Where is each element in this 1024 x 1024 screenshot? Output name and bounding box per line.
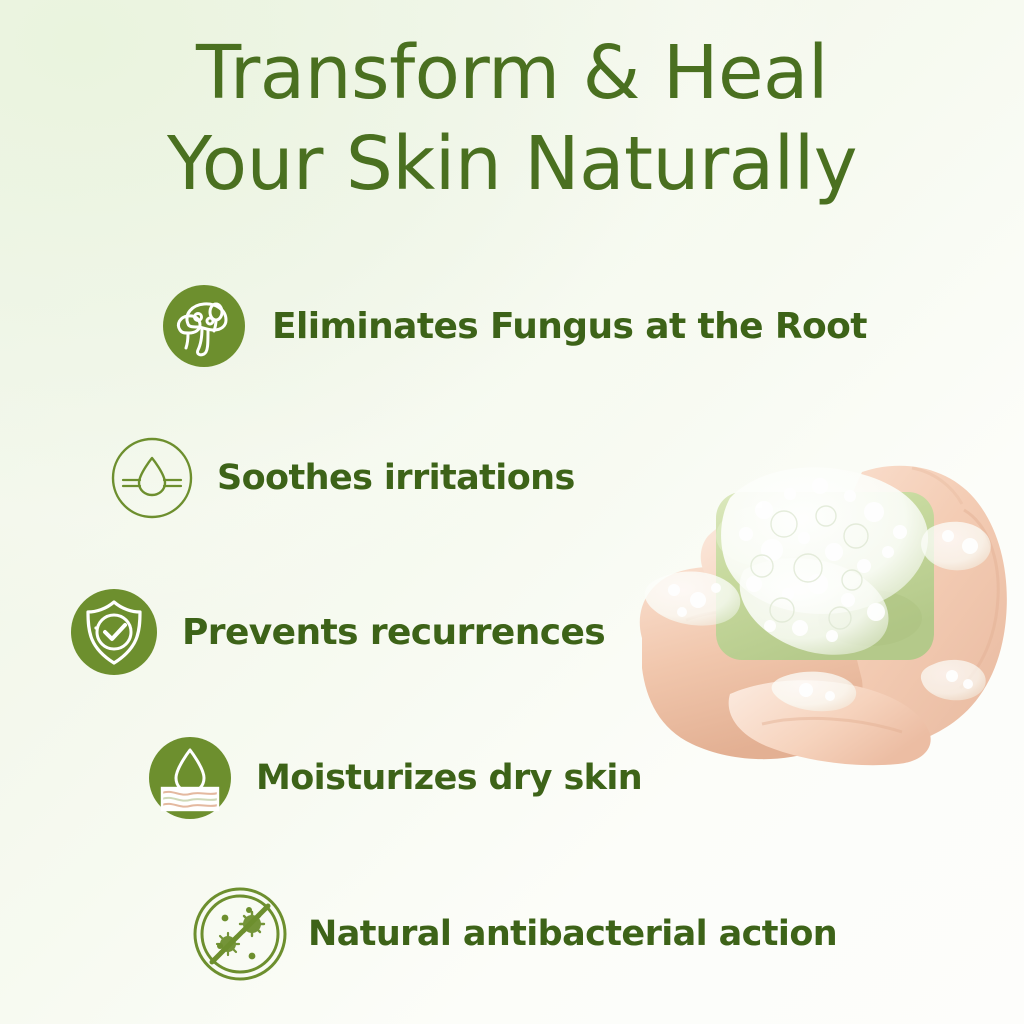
feature-row-natural-antibacterial-action: Natural antibacterial action xyxy=(190,884,837,984)
no-bacteria-icon xyxy=(190,884,290,984)
feature-label: Moisturizes dry skin xyxy=(256,758,642,798)
feature-row-eliminates-fungus: Eliminates Fungus at the Root xyxy=(158,280,867,372)
feature-label: Eliminates Fungus at the Root xyxy=(272,306,867,347)
droplet-skin-layers-icon xyxy=(144,732,236,824)
feature-row-moisturizes-dry-skin: Moisturizes dry skin xyxy=(144,732,642,824)
feature-row-prevents-recurrences: Prevents recurrences xyxy=(66,584,605,680)
mushroom-fungus-icon xyxy=(158,280,250,372)
feature-label: Prevents recurrences xyxy=(182,612,605,653)
feature-label: Natural antibacterial action xyxy=(308,914,837,954)
headline-line-1: Transform & Heal xyxy=(0,28,1024,119)
droplet-soothing-icon xyxy=(106,432,198,524)
headline-line-2: Your Skin Naturally xyxy=(0,119,1024,210)
page-title: Transform & Heal Your Skin Naturally xyxy=(0,28,1024,210)
product-photo-hands-with-soap xyxy=(612,432,1024,780)
shield-check-icon xyxy=(66,584,162,680)
feature-row-soothes-irritations: Soothes irritations xyxy=(106,432,575,524)
feature-label: Soothes irritations xyxy=(217,458,575,498)
promotional-poster: Transform & Heal Your Skin Naturally xyxy=(0,0,1024,1024)
